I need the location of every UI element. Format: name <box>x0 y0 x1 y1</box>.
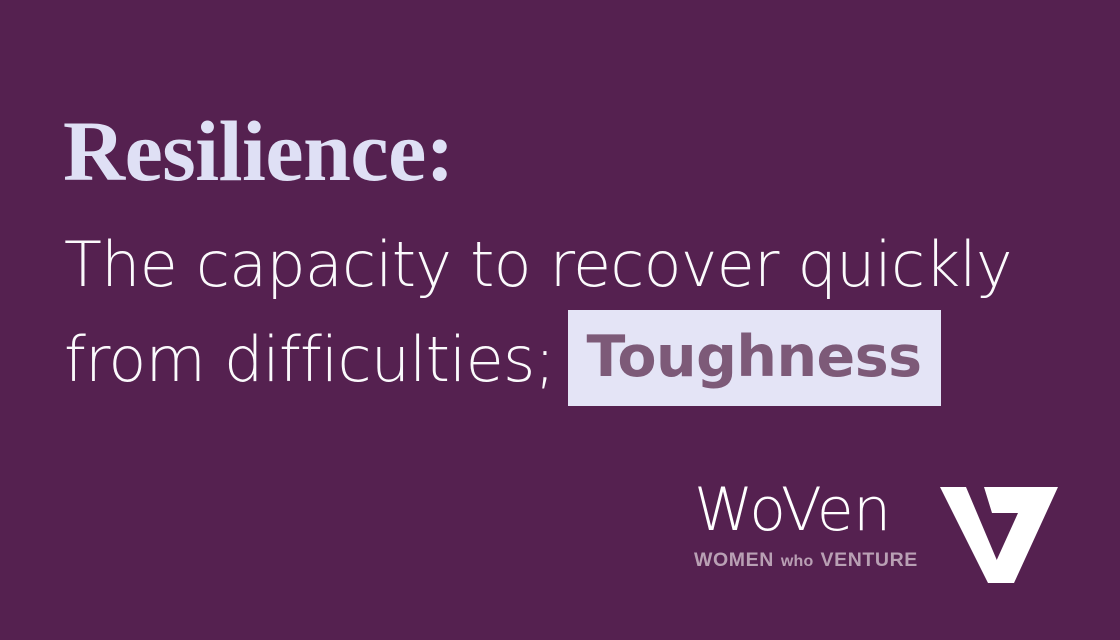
logo-text-group: WoVen WOMEN who VENTURE <box>694 478 926 573</box>
definition-text: The capacity to recover quickly from dif… <box>64 218 1064 407</box>
definition-line-2: from difficulties; Toughness <box>64 311 1064 407</box>
definition-line-2-text: from difficulties; <box>64 313 555 406</box>
quote-slide: Resilience: The capacity to recover quic… <box>0 0 1120 640</box>
highlighted-term: Toughness <box>568 310 941 406</box>
woven-w-monogram-icon <box>940 487 1058 583</box>
logo-tagline: WOMEN who VENTURE <box>694 549 926 573</box>
logo-wordmark: WoVen <box>694 478 926 542</box>
page-title: Resilience: <box>63 108 454 194</box>
tagline-venture: VENTURE <box>821 549 918 571</box>
woven-logo: WoVen WOMEN who VENTURE <box>694 478 1059 588</box>
tagline-who: who <box>781 551 814 573</box>
definition-line-1: The capacity to recover quickly <box>64 218 1064 311</box>
tagline-women: WOMEN <box>694 549 774 571</box>
